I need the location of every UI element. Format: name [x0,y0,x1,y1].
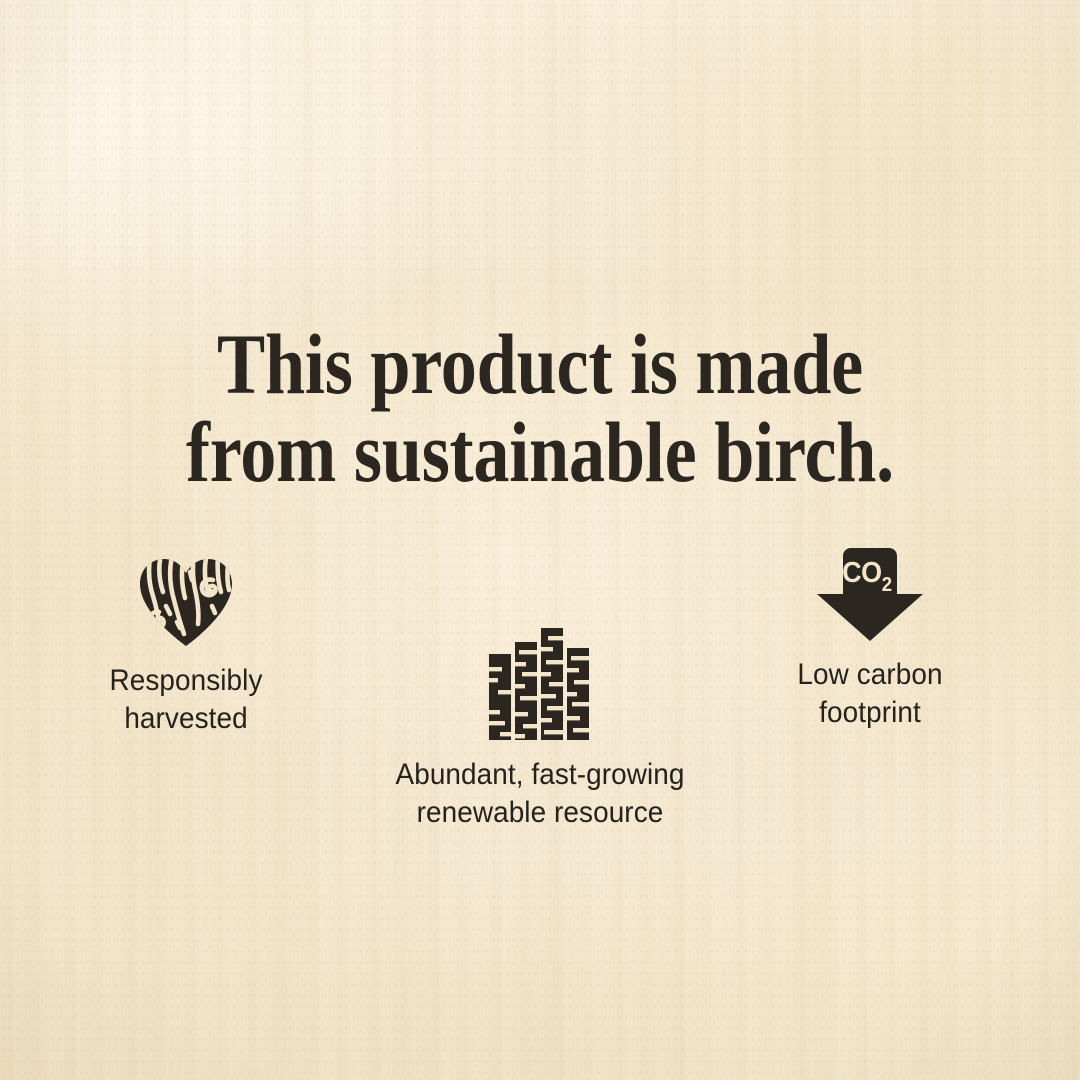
benefit-item-low-carbon-footprint: CO2 Low carbon footprint [710,546,1030,733]
benefit-icon-slot: CO2 [710,546,1030,642]
benefit-item-renewable-resource: Abundant, fast-growing renewable resourc… [380,620,700,833]
benefit-icon-slot [26,552,346,648]
birch-logs-icon [486,622,594,742]
wood-grain-heart-icon [136,556,236,648]
benefit-caption: Abundant, fast-growing renewable resourc… [391,756,689,833]
co2-down-arrow-icon: CO2 [812,548,928,642]
sustainable-birch-panel: This product is made from sustainable bi… [0,0,1080,1080]
benefit-item-responsibly-harvested: Responsibly harvested [26,552,346,739]
benefit-caption: Responsibly harvested [37,662,335,739]
page-title: This product is made from sustainable bi… [86,320,993,497]
benefit-icon-slot [380,620,700,742]
benefit-caption: Low carbon footprint [721,656,1019,733]
benefit-list: Responsibly harvested [0,540,1080,870]
